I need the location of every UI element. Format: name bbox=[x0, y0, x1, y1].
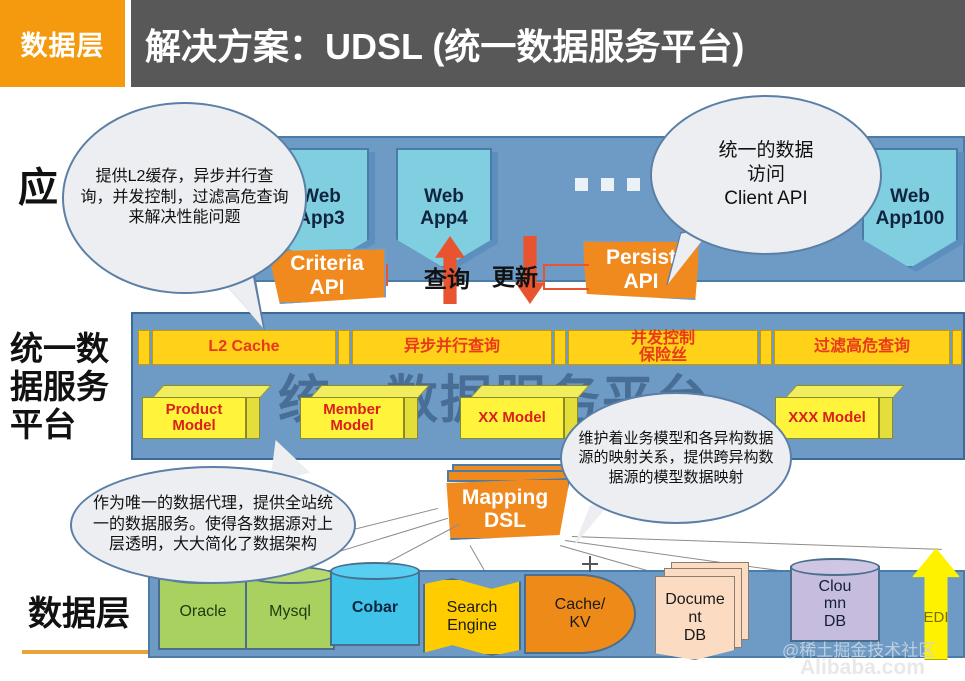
web-app-line1: Web bbox=[301, 186, 341, 208]
callout-performance: 提供L2缓存，异步并行查询，并发控制，过滤高危查询来解决性能问题 bbox=[62, 102, 307, 294]
query-label: 查询 bbox=[424, 260, 470, 294]
feature-label: 异步并行查询 bbox=[404, 339, 500, 356]
layer-label-data: 数据层 bbox=[28, 595, 130, 634]
cube-front-face: XXX Model bbox=[775, 397, 879, 439]
callout-line1: 统一的数据 bbox=[718, 139, 813, 163]
feature-bar-edge bbox=[952, 330, 962, 365]
mapping-dsl-box[interactable]: Mapping DSL bbox=[440, 478, 570, 540]
persist-api-line1: Persist bbox=[606, 246, 676, 270]
mapping-connector-line bbox=[380, 524, 460, 567]
datasource-line2: Engine bbox=[447, 617, 497, 635]
model-cube-xxx[interactable]: XXX Model bbox=[775, 385, 893, 439]
criteria-api-line2: API bbox=[309, 276, 344, 300]
cube-side-face bbox=[246, 397, 260, 439]
feature-label: L2 Cache bbox=[208, 339, 279, 356]
callout-line2: 访问 bbox=[718, 163, 813, 187]
callout-text: 提供L2缓存，异步并行查询，并发控制，过滤高危查询来解决性能问题 bbox=[64, 167, 305, 228]
model-cube-member[interactable]: Member Model bbox=[300, 385, 418, 439]
edi-label: EDI bbox=[923, 609, 948, 626]
datasource-line1: Clou bbox=[819, 578, 852, 596]
page-title: 解决方案：UDSL (统一数据服务平台) bbox=[145, 18, 744, 70]
datasource-line1: Search bbox=[447, 599, 498, 617]
ellipsis-dots-icon bbox=[575, 178, 640, 191]
datasource-line2: nt bbox=[688, 609, 701, 627]
datasource-line1: Docume bbox=[665, 591, 725, 609]
cylinder-cap bbox=[790, 558, 880, 576]
callout-data-proxy: 作为唯一的数据代理，提供全站统一的数据服务。使得各数据源对上层透明，大大简化了数… bbox=[70, 466, 356, 584]
cylinder-cap bbox=[330, 562, 420, 580]
datasource-label: Oracle bbox=[179, 603, 226, 621]
datasource-search-engine[interactable]: Search Engine bbox=[423, 578, 521, 656]
web-app-line2: App4 bbox=[420, 208, 468, 230]
model-line1: XX Model bbox=[478, 410, 546, 427]
datasource-line2: mn bbox=[824, 595, 846, 613]
update-label: 更新 bbox=[492, 258, 538, 292]
callout-text: 作为唯一的数据代理，提供全站统一的数据服务。使得各数据源对上层透明，大大简化了数… bbox=[72, 494, 354, 555]
datasource-line2: KV bbox=[569, 614, 590, 632]
criteria-api-line1: Criteria bbox=[290, 252, 364, 276]
feature-box-filter-risky-query[interactable]: 过滤高危查询 bbox=[774, 330, 950, 365]
feature-box-l2-cache[interactable]: L2 Cache bbox=[152, 330, 336, 365]
feature-box-concurrency-control[interactable]: 并发控制 保险丝 bbox=[568, 330, 758, 365]
feature-bar-edge bbox=[554, 330, 566, 365]
model-cube-product[interactable]: Product Model bbox=[142, 385, 260, 439]
datasource-cobar[interactable]: Cobar bbox=[330, 562, 420, 654]
datasource-document-db[interactable]: Docume nt DB bbox=[655, 576, 735, 660]
cube-front-face: XX Model bbox=[460, 397, 564, 439]
cylinder-body: Oracle bbox=[158, 574, 248, 650]
web-app-line1: Web bbox=[424, 186, 464, 208]
criteria-api-box[interactable]: Criteria API bbox=[268, 248, 386, 304]
feature-box-async-parallel-query[interactable]: 异步并行查询 bbox=[352, 330, 552, 365]
cube-side-face bbox=[404, 397, 418, 439]
mouse-cursor-icon bbox=[582, 556, 598, 572]
datasource-line3: DB bbox=[824, 613, 846, 631]
model-line2: Model bbox=[172, 418, 215, 435]
feature-label: 过滤高危查询 bbox=[814, 339, 910, 356]
cylinder-body: Mysql bbox=[245, 574, 335, 650]
feature-sublabel: 保险丝 bbox=[631, 348, 695, 365]
callout-text: 维护着业务模型和各异构数据源的映射关系，提供跨异构数据源的模型数据映射 bbox=[562, 429, 790, 487]
feature-label: 并发控制 bbox=[631, 331, 695, 348]
callout-text: 统一的数据 访问 Client API bbox=[702, 139, 829, 212]
header-badge-label: 数据层 bbox=[21, 24, 105, 63]
datasource-line3: DB bbox=[684, 627, 706, 645]
datasource-line1: Cache/ bbox=[555, 596, 606, 614]
callout-model-mapping: 维护着业务模型和各异构数据源的映射关系，提供跨异构数据源的模型数据映射 bbox=[560, 392, 792, 524]
cylinder-body: Cobar bbox=[330, 570, 420, 646]
layer-label-application: 应 bbox=[18, 165, 58, 211]
mapping-dsl-line2: DSL bbox=[484, 509, 526, 532]
persist-api-line2: API bbox=[623, 270, 658, 294]
feature-bar-edge bbox=[138, 330, 150, 365]
model-line1: Product bbox=[166, 402, 223, 419]
callout-line3: Client API bbox=[718, 187, 813, 211]
mapping-connector-line bbox=[470, 545, 486, 571]
datasource-cache-kv[interactable]: Cache/ KV bbox=[524, 574, 636, 654]
layer-label-data-underline bbox=[22, 650, 150, 654]
web-app-line1: Web bbox=[890, 186, 930, 208]
layer-label-udsl: 统一数据服务平台 bbox=[10, 330, 130, 444]
watermark-brand: Alibaba.com bbox=[800, 656, 925, 680]
cube-front-face: Product Model bbox=[142, 397, 246, 439]
datasource-label: Cobar bbox=[352, 599, 398, 617]
cube-side-face bbox=[879, 397, 893, 439]
slide-canvas: 数据层 解决方案：UDSL (统一数据服务平台) 应 统一数据服务平台 数据层 … bbox=[0, 0, 965, 681]
model-line1: Member bbox=[323, 402, 381, 419]
header-badge: 数据层 bbox=[0, 0, 125, 87]
model-line1: XXX Model bbox=[788, 410, 866, 427]
header-title-bar: 解决方案：UDSL (统一数据服务平台) bbox=[131, 0, 965, 87]
web-app-line2: App100 bbox=[876, 208, 945, 230]
feature-bar-edge bbox=[338, 330, 350, 365]
model-line2: Model bbox=[330, 418, 373, 435]
mapping-dsl-line1: Mapping bbox=[462, 486, 548, 509]
datasource-label: Mysql bbox=[269, 603, 311, 621]
model-cube-xx[interactable]: XX Model bbox=[460, 385, 578, 439]
feature-bar-edge bbox=[760, 330, 772, 365]
persist-connector-line bbox=[543, 264, 589, 290]
callout-unified-access: 统一的数据 访问 Client API bbox=[650, 95, 882, 255]
cylinder-body: Clou mn DB bbox=[790, 566, 880, 642]
cube-front-face: Member Model bbox=[300, 397, 404, 439]
